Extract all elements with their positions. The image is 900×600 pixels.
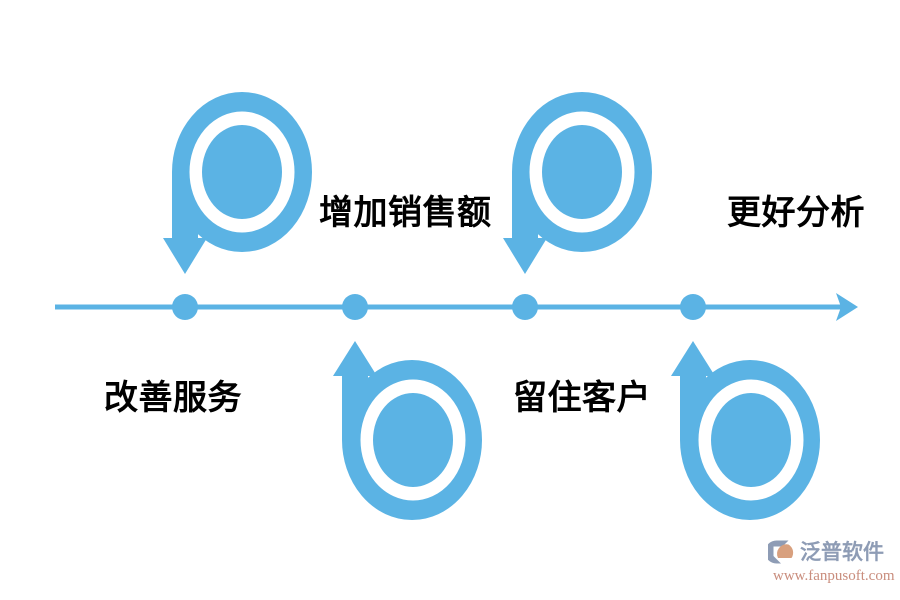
p-loop-arrowhead-1 [163,238,207,274]
timeline-node-1[interactable] [172,294,198,320]
marker-b-loop-2 [333,341,469,507]
watermark-url-text: www.fanpusoft.com [773,569,895,584]
p-loop-inner-disc-1 [202,125,282,219]
timeline-diagram [0,0,900,600]
fanpu-logo-icon [768,537,798,567]
timeline-label-better-analysis: 更好分析 [727,196,865,230]
timeline-label-improve-service: 改善服务 [104,381,242,415]
marker-p-loop-1 [163,105,299,274]
b-loop-arrowhead-2 [333,341,377,376]
marker-b-loop-4 [671,341,807,507]
p-loop-arrowhead-3 [503,238,547,274]
b-loop-inner-disc-4 [711,393,791,487]
marker-p-loop-3 [503,105,639,274]
diagram-canvas: 改善服务 增加销售额 留住客户 更好分析 泛普软件 www.fanpusoft.… [0,0,900,600]
b-loop-arrowhead-4 [671,341,715,376]
watermark-brand-row: 泛普软件 [768,536,884,568]
timeline-label-increase-sales: 增加销售额 [319,196,492,230]
b-loop-inner-disc-2 [373,393,453,487]
timeline-node-3[interactable] [512,294,538,320]
timeline-label-retain-customers: 留住客户 [513,381,651,415]
timeline-node-4[interactable] [680,294,706,320]
watermark: 泛普软件 www.fanpusoft.com [768,536,894,594]
p-loop-inner-disc-3 [542,125,622,219]
watermark-brand-text: 泛普软件 [800,542,884,563]
timeline-node-2[interactable] [342,294,368,320]
